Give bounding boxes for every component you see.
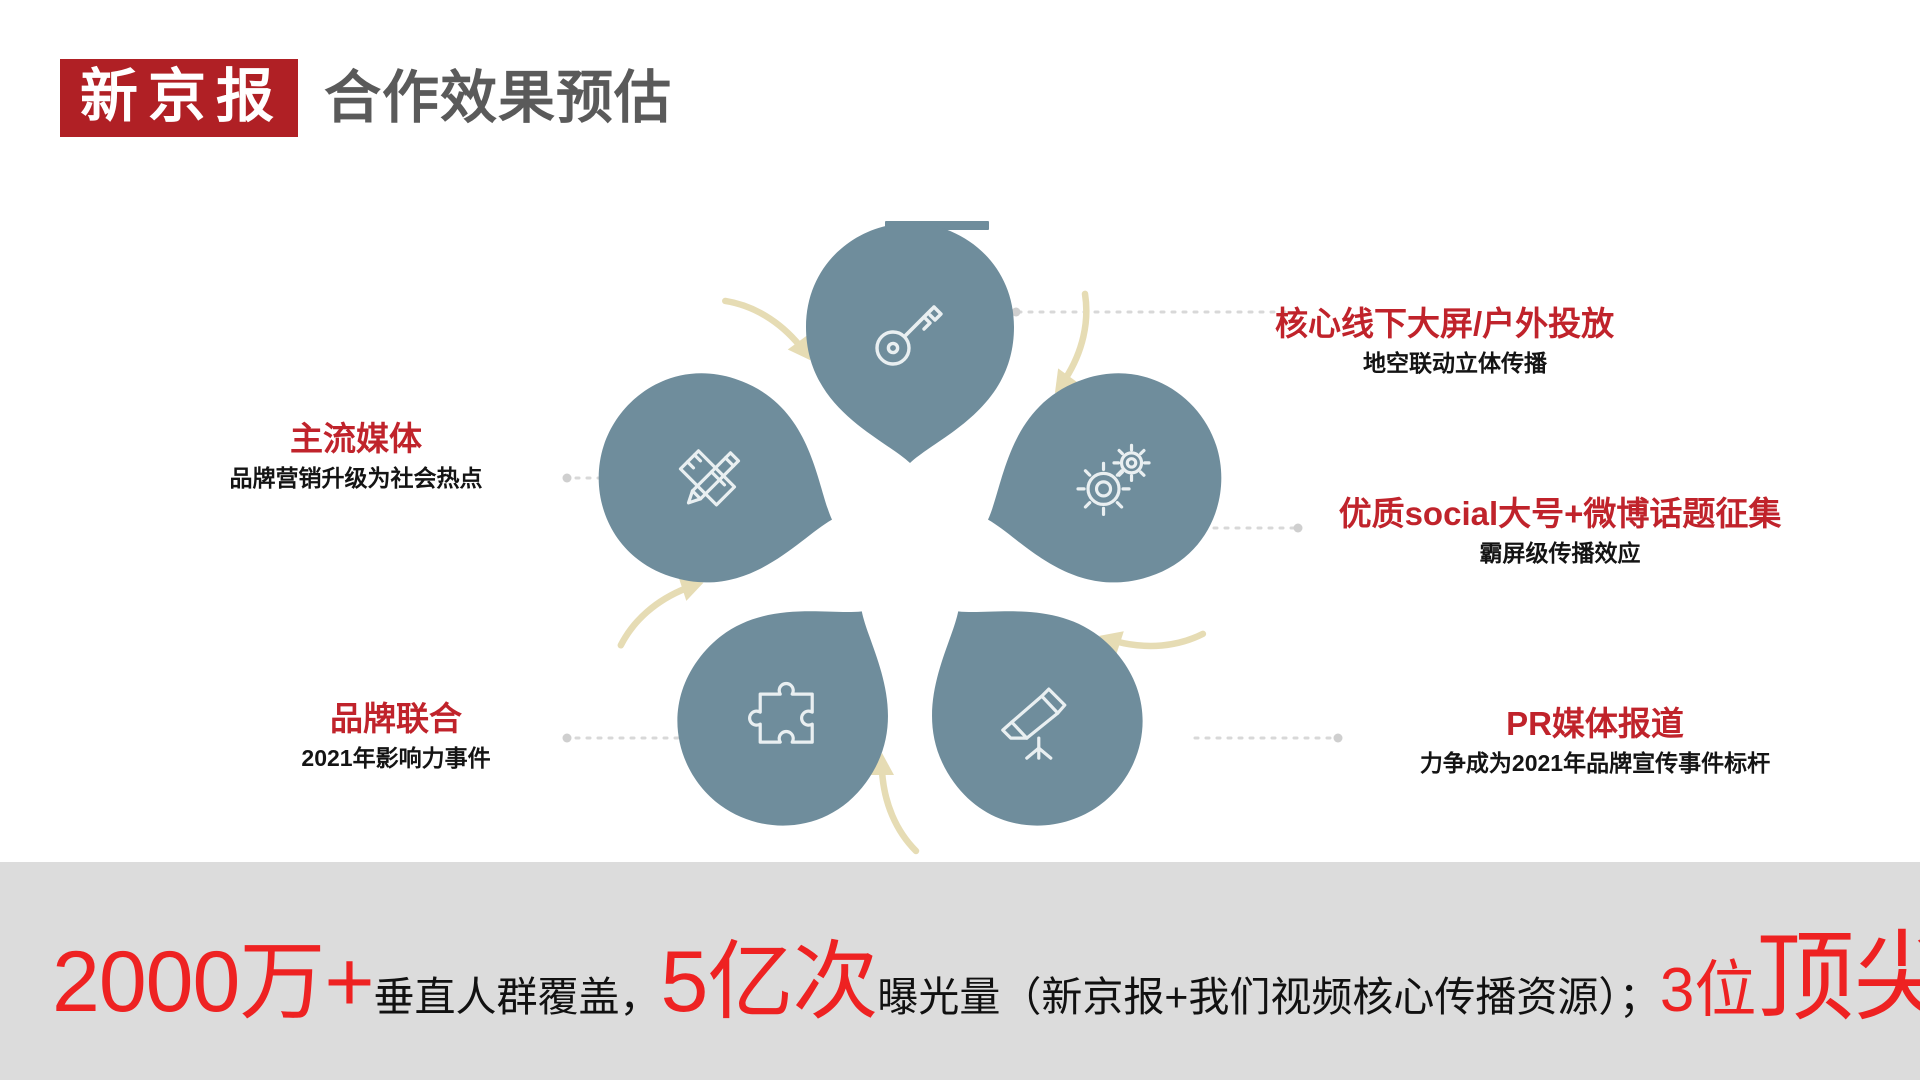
callout-social: 优质social大号+微博话题征集 霸屏级传播效应 [1280,495,1840,568]
banner-metric-3-emph: 顶尖 [1756,928,1920,1026]
petal-pencil[interactable] [572,347,865,619]
arrow-top-right [1027,294,1122,400]
banner-metric-3: 3位 [1660,960,1756,1022]
petal-puzzle[interactable] [637,550,946,866]
arrow-right-bottom [1095,604,1202,678]
banner-text-1: 垂直人群覆盖， [374,977,661,1018]
decorative-rule [885,221,989,230]
callout-offline-subtitle: 地空联动立体传播 [1275,350,1715,378]
callout-brand-title: 品牌联合 [186,700,606,738]
xinjingbao-logo: 新京报 [60,59,298,137]
petal-gears[interactable] [956,347,1249,619]
callout-brand: 品牌联合 2021年影响力事件 [186,700,606,773]
callout-social-title: 优质social大号+微博话题征集 [1280,495,1840,533]
summary-banner-line: 2000万+ 垂直人群覆盖， 5亿次 曝光量（新京报+我们视频核心传播资源）； … [52,928,1910,1026]
callout-mainstream-title: 主流媒体 [146,420,566,458]
petal-key[interactable] [806,223,1014,463]
arrow-bottom [870,753,916,851]
petal-telescope[interactable] [874,550,1183,866]
banner-text-2: 曝光量（新京报+我们视频核心传播资源）； [877,977,1659,1018]
callout-pr: PR媒体报道 力争成为2021年品牌宣传事件标杆 [1355,705,1835,778]
callout-mainstream-subtitle: 品牌营销升级为社会热点 [146,465,566,493]
callout-mainstream: 主流媒体 品牌营销升级为社会热点 [146,420,566,493]
callout-pr-title: PR媒体报道 [1355,705,1835,743]
page-title: 合作效果预估 [324,70,672,127]
connector-lines [565,312,1340,738]
callout-brand-subtitle: 2021年影响力事件 [186,745,606,773]
cycle-arrows [607,274,1203,851]
connector-dots [563,308,1343,743]
summary-banner: 2000万+ 垂直人群覆盖， 5亿次 曝光量（新京报+我们视频核心传播资源）； … [0,862,1920,1080]
callout-pr-subtitle: 力争成为2021年品牌宣传事件标杆 [1355,750,1835,778]
arrow-bottom-left [607,571,714,645]
callout-social-subtitle: 霸屏级传播效应 [1280,540,1840,568]
callout-offline: 核心线下大屏/户外投放 地空联动立体传播 [1275,305,1715,378]
arrow-left-top [725,274,820,380]
banner-metric-1: 2000万+ [52,939,374,1025]
page-header: 新京报 合作效果预估 [60,58,672,138]
banner-metric-2: 5亿次 [661,939,878,1025]
callout-offline-title: 核心线下大屏/户外投放 [1275,305,1715,343]
